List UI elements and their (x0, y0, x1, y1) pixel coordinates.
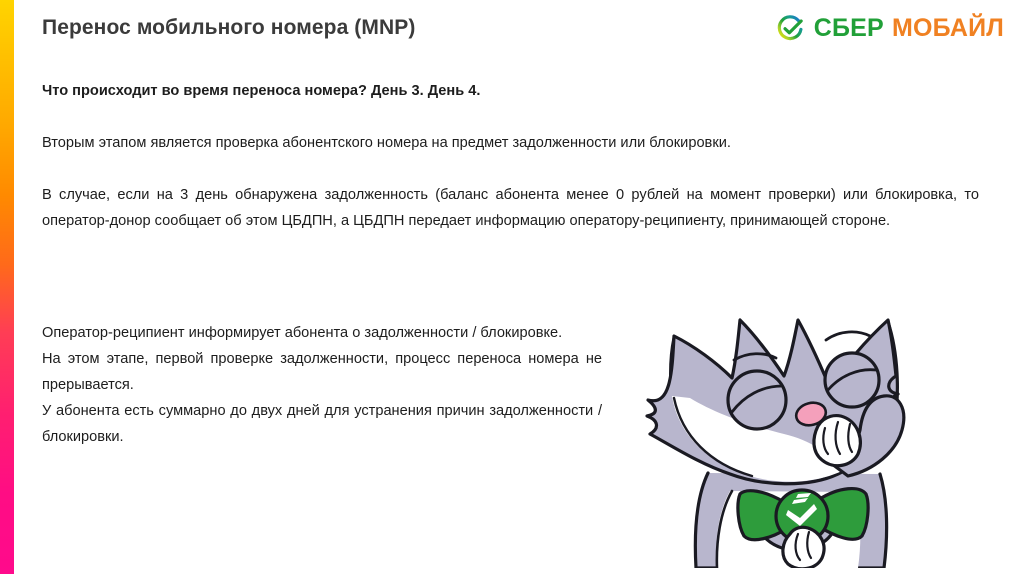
recipient-notice-text: Оператор-реципиент информирует абонента … (42, 320, 602, 346)
brand-word-mobile: МОБАЙЛ (892, 16, 1004, 41)
cat-eye-right (825, 353, 879, 407)
accent-gradient-bar (0, 0, 14, 574)
cat-brow-right (826, 332, 870, 340)
cat-paw-lower (783, 527, 824, 568)
two-days-text: У абонента есть суммарно до двух дней дл… (42, 398, 602, 450)
page-title: Перенос мобильного номера (MNP) (42, 16, 415, 40)
stage-two-text: Вторым этапом является проверка абонентс… (42, 130, 922, 156)
brand-word-sber: СБЕР (814, 16, 884, 41)
lead-question-text: Что происходит во время переноса номера?… (42, 78, 922, 104)
sber-checkmark-circle-icon (776, 14, 805, 43)
cat-eye-left (728, 371, 786, 429)
recipient-info-block: Оператор-реципиент информирует абонента … (42, 320, 602, 450)
sber-cat-mascot-illustration (612, 248, 948, 568)
slide-canvas: Перенос мобильного номера (MNP) СБЕР МОБ… (0, 0, 1024, 574)
brand-logo: СБЕР МОБАЙЛ (776, 11, 1004, 45)
debt-case-paragraph: В случае, если на 3 день обнаружена задо… (42, 182, 979, 234)
no-interrupt-text: На этом этапе, первой проверке задолженн… (42, 346, 602, 398)
